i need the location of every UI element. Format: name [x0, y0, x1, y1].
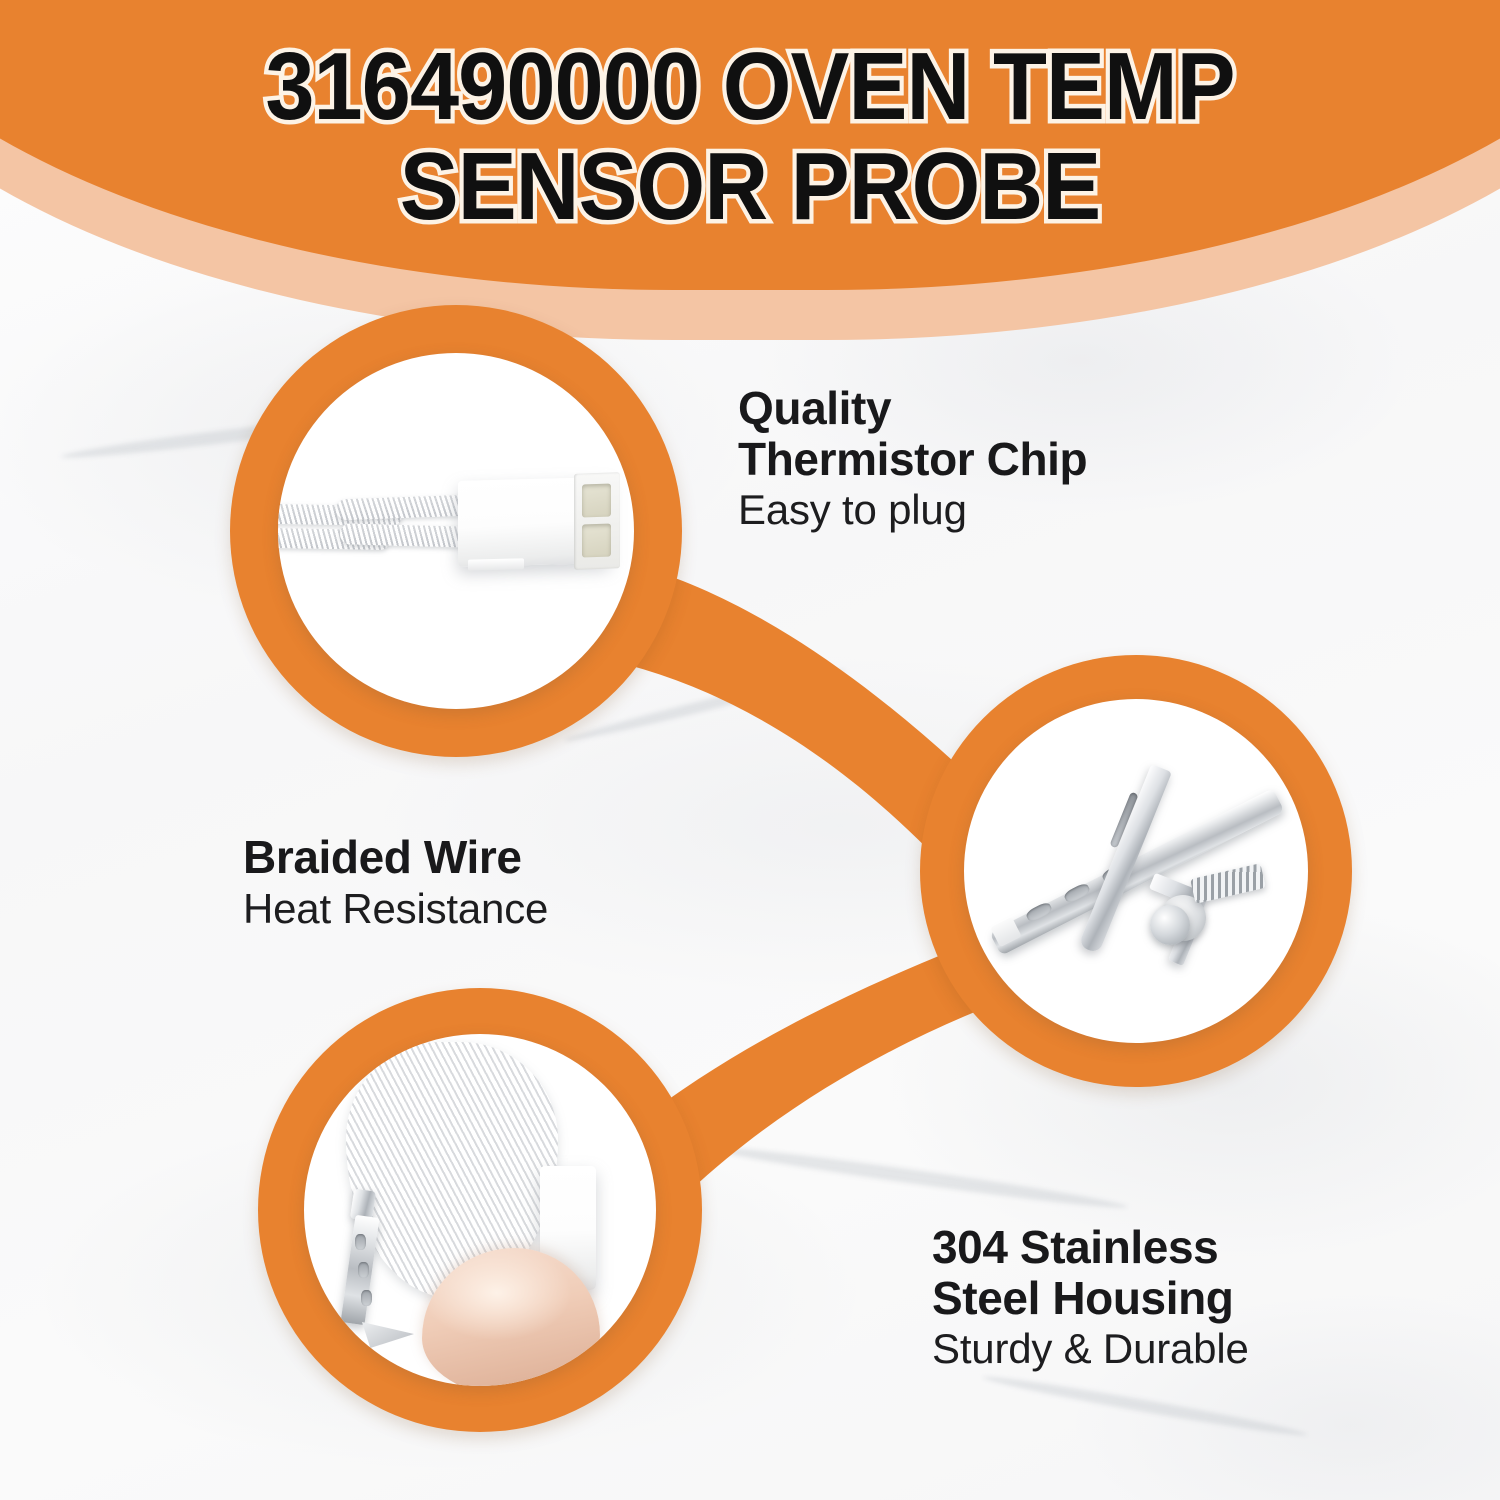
feature-photo-stainless [964, 699, 1308, 1043]
feature-photo-braided-wire [304, 1034, 656, 1386]
callout-thermistor: Quality Thermistor Chip Easy to plug [738, 383, 1258, 534]
feature-circle-braided-wire [258, 988, 702, 1432]
connector-plug-latch [468, 558, 524, 570]
probe-shaft-hole-3 [361, 1290, 372, 1306]
title-line-2: SENSOR PROBE [60, 140, 1440, 234]
feature-photo-thermistor [278, 353, 634, 709]
callout-braided-wire: Braided Wire Heat Resistance [243, 832, 763, 932]
page-title: 316490000 OVEN TEMP SENSOR PROBE [0, 40, 1500, 234]
callout-stainless-subtitle: Sturdy & Durable [932, 1325, 1452, 1373]
callout-braided-wire-subtitle: Heat Resistance [243, 885, 763, 933]
steel-probe-illustration [964, 699, 1308, 1043]
probe-bracket-tip [362, 1322, 414, 1348]
callout-stainless-title-line2: Steel Housing [932, 1273, 1452, 1324]
thermistor-plug-illustration [278, 353, 634, 709]
infographic-canvas: 316490000 OVEN TEMP SENSOR PROBE [0, 0, 1500, 1500]
braided-wire-illustration [304, 1034, 656, 1386]
callout-thermistor-title-line2: Thermistor Chip [738, 434, 1258, 485]
probe-shaft-hole-2 [358, 1262, 369, 1278]
callout-stainless-title-line1: 304 Stainless [932, 1222, 1452, 1273]
screw-head [1150, 905, 1190, 945]
screw-shaft [1190, 863, 1266, 904]
wire-lead-lower [340, 523, 473, 547]
wire-lead-upper [336, 495, 471, 521]
connector-pin-slot-1 [582, 483, 611, 517]
probe-shaft-hole-1 [355, 1234, 366, 1250]
title-line-1: 316490000 OVEN TEMP [60, 40, 1440, 134]
connector-pin-slot-2 [582, 523, 611, 557]
callout-stainless: 304 Stainless Steel Housing Sturdy & Dur… [932, 1222, 1452, 1373]
feature-circle-thermistor [230, 305, 682, 757]
callout-thermistor-subtitle: Easy to plug [738, 486, 1258, 534]
callout-braided-wire-title: Braided Wire [243, 832, 763, 883]
feature-circle-stainless [920, 655, 1352, 1087]
callout-thermistor-title-line1: Quality [738, 383, 1258, 434]
